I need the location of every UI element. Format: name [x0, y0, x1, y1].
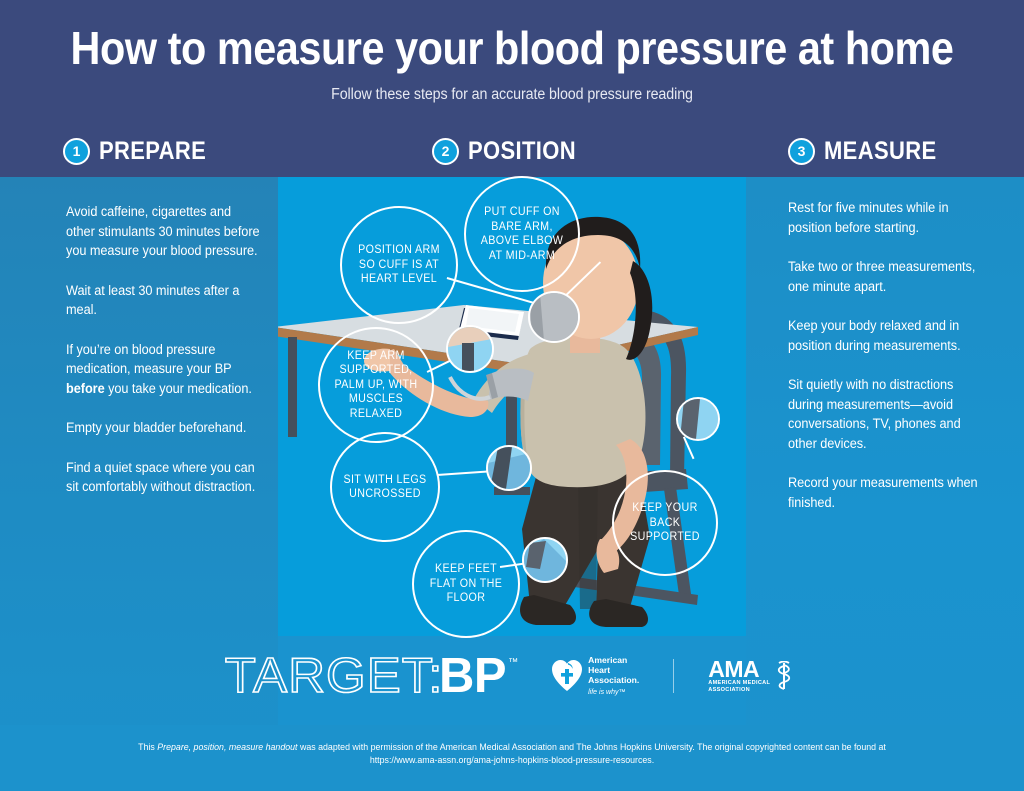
- prepare-para-medication: If you’re on blood pressure medication, …: [66, 340, 261, 399]
- step-header-position: 2 POSITION: [432, 134, 591, 168]
- heart-torch-icon: [552, 660, 582, 692]
- magnifier-back: [676, 397, 720, 441]
- aha-line-3: Association.: [588, 675, 639, 685]
- prepare-para-1: Avoid caffeine, cigarettes and other sti…: [66, 202, 261, 261]
- measure-body-copy: Rest for five minutes while in position …: [788, 198, 978, 532]
- magnifier-cuff: [528, 291, 580, 343]
- disclaimer-post: was adapted with permission of the Ameri…: [298, 742, 886, 765]
- aha-line-1: American: [588, 655, 639, 665]
- target-bp-logo: TARGET: BP ™: [229, 652, 518, 701]
- aha-text-block: American Heart Association. life is why™: [588, 655, 639, 698]
- magnifier-knee: [486, 445, 532, 491]
- callout-feet: KEEP FEET FLAT ON THE FLOOR: [412, 530, 520, 638]
- step-label-prepare: PREPARE: [99, 137, 206, 166]
- american-medical-association-logo: AMA AMERICAN MEDICAL ASSOCIATION: [708, 658, 795, 694]
- measure-para-1: Rest for five minutes while in position …: [788, 198, 978, 237]
- american-heart-association-logo: American Heart Association. life is why™: [552, 655, 639, 698]
- callout-arm-text: KEEP ARM SUPPORTED, PALM UP, WITH MUSCLE…: [330, 349, 423, 422]
- callout-cuff: PUT CUFF ON BARE ARM, ABOVE ELBOW AT MID…: [464, 176, 580, 292]
- callout-legs-text: SIT WITH LEGS UNCROSSED: [341, 473, 428, 502]
- prepare-para-4: Find a quiet space where you can sit com…: [66, 458, 261, 497]
- logo-divider: [673, 659, 674, 693]
- callout-arm: KEEP ARM SUPPORTED, PALM UP, WITH MUSCLE…: [318, 327, 434, 443]
- disclaimer-pre: This: [138, 742, 157, 752]
- ama-wordmark: AMA: [708, 658, 770, 680]
- measure-para-5: Record your measurements when finished.: [788, 473, 978, 512]
- aha-line-2: Heart: [588, 665, 639, 675]
- prepare-para-3: Empty your bladder beforehand.: [66, 418, 261, 438]
- page-subtitle: Follow these steps for an accurate blood…: [41, 86, 983, 104]
- infographic-page: How to measure your blood pressure at ho…: [0, 0, 1024, 791]
- aha-tagline: life is why™: [588, 688, 639, 698]
- callout-heart-text: POSITION ARM SO CUFF IS AT HEART LEVEL: [352, 243, 447, 287]
- caduceus-icon: [773, 661, 795, 691]
- magnifier-foot: [522, 537, 568, 583]
- prepare-para-2: Wait at least 30 minutes after a meal.: [66, 281, 261, 320]
- trademark-symbol: ™: [508, 658, 518, 668]
- step-label-measure: MEASURE: [824, 137, 936, 166]
- ama-subtext-2: ASSOCIATION: [708, 687, 770, 694]
- callout-feet-text: KEEP FEET FLAT ON THE FLOOR: [423, 562, 509, 606]
- measure-para-2: Take two or three measurements, one minu…: [788, 257, 978, 296]
- step-number-3: 3: [788, 138, 815, 165]
- measure-para-3: Keep your body relaxed and in position d…: [788, 316, 978, 355]
- medication-post: you take your medication.: [105, 381, 252, 396]
- disclaimer-italic: Prepare, position, measure handout: [157, 742, 297, 752]
- page-title: How to measure your blood pressure at ho…: [51, 22, 973, 74]
- prepare-body-copy: Avoid caffeine, cigarettes and other sti…: [66, 202, 261, 517]
- callout-cuff-text: PUT CUFF ON BARE ARM, ABOVE ELBOW AT MID…: [476, 205, 569, 263]
- target-bp-bold-text: BP: [439, 652, 506, 701]
- step-number-2: 2: [432, 138, 459, 165]
- step-header-measure: 3 MEASURE: [788, 134, 952, 168]
- callout-heart: POSITION ARM SO CUFF IS AT HEART LEVEL: [340, 206, 458, 324]
- step-label-position: POSITION: [468, 137, 576, 166]
- target-bp-thin-text: TARGET:: [225, 652, 444, 701]
- magnifier-hand: [446, 325, 494, 373]
- callout-back: KEEP YOUR BACK SUPPORTED: [612, 470, 718, 576]
- step-number-1: 1: [63, 138, 90, 165]
- disclaimer-text: This Prepare, position, measure handout …: [128, 741, 896, 767]
- medication-pre: If you’re on blood pressure medication, …: [66, 342, 231, 377]
- measure-para-4: Sit quietly with no distractions during …: [788, 375, 978, 453]
- callout-legs: SIT WITH LEGS UNCROSSED: [330, 432, 440, 542]
- ama-subtext-1: AMERICAN MEDICAL: [708, 680, 770, 687]
- step-header-prepare: 1 PREPARE: [63, 134, 221, 168]
- medication-bold: before: [66, 381, 105, 396]
- callout-back-text: KEEP YOUR BACK SUPPORTED: [623, 501, 707, 545]
- logo-row: TARGET: BP ™ American Heart Association.…: [0, 645, 1024, 707]
